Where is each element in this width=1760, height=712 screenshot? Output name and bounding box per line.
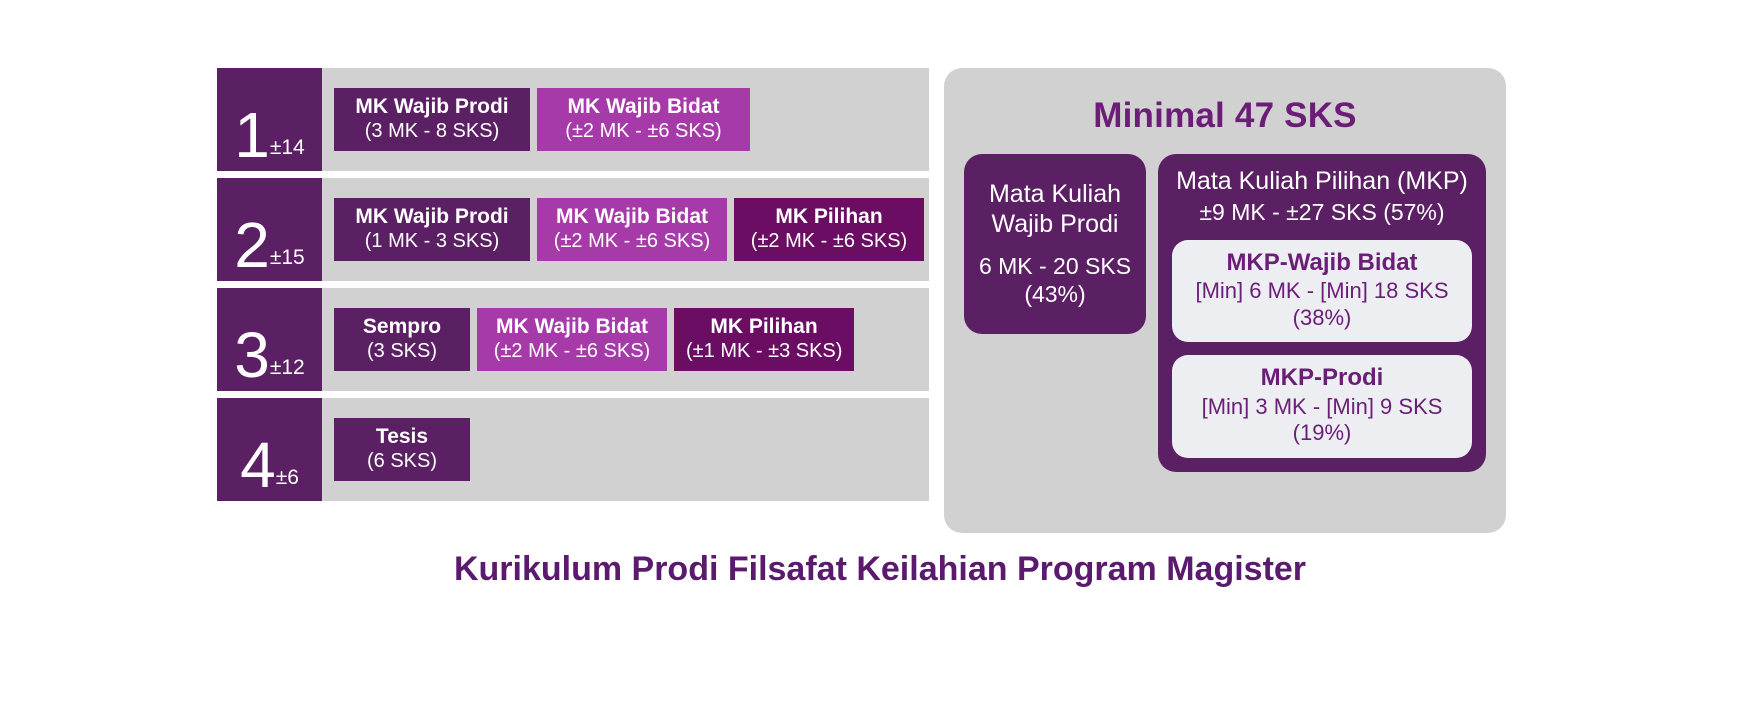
course-detail: (±2 MK - ±6 SKS) (549, 120, 738, 142)
mata-kuliah-wajib-prodi-card: Mata Kuliah Wajib Prodi 6 MK - 20 SKS (4… (964, 154, 1146, 334)
subgroup-title: MKP-Wajib Bidat (1184, 249, 1460, 278)
summary-title: Minimal 47 SKS (964, 96, 1486, 136)
wajib-prodi-value: 6 MK - 20 SKS (43%) (974, 253, 1136, 307)
diagram-canvas: 1±14MK Wajib Prodi(3 MK - 8 SKS)MK Wajib… (0, 0, 1760, 712)
subgroup-value: [Min] 6 MK - [Min] 18 SKS (38%) (1184, 278, 1460, 331)
course-title: Tesis (346, 425, 458, 449)
course-block[interactable]: Tesis(6 SKS) (334, 418, 470, 481)
course-title: MK Pilihan (686, 315, 842, 339)
course-title: MK Wajib Bidat (549, 95, 738, 119)
pilihan-subgroup-card: MKP-Wajib Bidat[Min] 6 MK - [Min] 18 SKS… (1172, 240, 1472, 343)
semester-number: 1 (234, 106, 269, 165)
summary-body: Mata Kuliah Wajib Prodi 6 MK - 20 SKS (4… (964, 154, 1486, 472)
pilihan-name: Mata Kuliah Pilihan (MKP) (1172, 166, 1472, 196)
course-title: MK Wajib Prodi (346, 205, 518, 229)
semester-number-badge: 3±12 (217, 288, 322, 391)
course-detail: (±2 MK - ±6 SKS) (746, 230, 912, 252)
course-detail: (±1 MK - ±3 SKS) (686, 340, 842, 362)
semester-course-track: Sempro(3 SKS)MK Wajib Bidat(±2 MK - ±6 S… (322, 288, 929, 391)
semester-number-badge: 4±6 (217, 398, 322, 501)
mata-kuliah-pilihan-card: Mata Kuliah Pilihan (MKP) ±9 MK - ±27 SK… (1158, 154, 1486, 472)
course-block[interactable]: MK Pilihan(±1 MK - ±3 SKS) (674, 308, 854, 371)
semester-row: 4±6Tesis(6 SKS) (217, 398, 929, 501)
semester-credits: ±12 (270, 357, 305, 385)
course-title: MK Pilihan (746, 205, 912, 229)
course-detail: (3 SKS) (346, 340, 458, 362)
pilihan-subgroups: MKP-Wajib Bidat[Min] 6 MK - [Min] 18 SKS… (1172, 240, 1472, 458)
semester-row: 2±15MK Wajib Prodi(1 MK - 3 SKS)MK Wajib… (217, 178, 929, 281)
semester-course-track: Tesis(6 SKS) (322, 398, 929, 501)
course-block[interactable]: MK Pilihan(±2 MK - ±6 SKS) (734, 198, 924, 261)
semester-credits: ±14 (270, 137, 305, 165)
course-detail: (1 MK - 3 SKS) (346, 230, 518, 252)
course-title: MK Wajib Bidat (549, 205, 715, 229)
pilihan-value: ±9 MK - ±27 SKS (57%) (1172, 199, 1472, 227)
semester-number: 3 (234, 326, 269, 385)
course-detail: (±2 MK - ±6 SKS) (489, 340, 655, 362)
semester-row: 1±14MK Wajib Prodi(3 MK - 8 SKS)MK Wajib… (217, 68, 929, 171)
course-block[interactable]: Sempro(3 SKS) (334, 308, 470, 371)
course-detail: (±2 MK - ±6 SKS) (549, 230, 715, 252)
subgroup-value: [Min] 3 MK - [Min] 9 SKS (19%) (1184, 394, 1460, 447)
course-title: Sempro (346, 315, 458, 339)
semester-credits: ±15 (270, 247, 305, 275)
semester-course-track: MK Wajib Prodi(3 MK - 8 SKS)MK Wajib Bid… (322, 68, 929, 171)
semester-timeline: 1±14MK Wajib Prodi(3 MK - 8 SKS)MK Wajib… (217, 68, 929, 501)
course-title: MK Wajib Prodi (346, 95, 518, 119)
course-title: MK Wajib Bidat (489, 315, 655, 339)
pilihan-subgroup-card: MKP-Prodi[Min] 3 MK - [Min] 9 SKS (19%) (1172, 355, 1472, 458)
semester-course-track: MK Wajib Prodi(1 MK - 3 SKS)MK Wajib Bid… (322, 178, 936, 281)
credits-summary-panel: Minimal 47 SKS Mata Kuliah Wajib Prodi 6… (944, 68, 1506, 533)
semester-number-badge: 2±15 (217, 178, 322, 281)
course-block[interactable]: MK Wajib Bidat(±2 MK - ±6 SKS) (537, 198, 727, 261)
course-block[interactable]: MK Wajib Bidat(±2 MK - ±6 SKS) (477, 308, 667, 371)
course-block[interactable]: MK Wajib Bidat(±2 MK - ±6 SKS) (537, 88, 750, 151)
wajib-prodi-name: Mata Kuliah Wajib Prodi (974, 180, 1136, 239)
course-block[interactable]: MK Wajib Prodi(3 MK - 8 SKS) (334, 88, 530, 151)
semester-credits: ±6 (276, 467, 299, 495)
subgroup-title: MKP-Prodi (1184, 364, 1460, 393)
semester-number: 4 (240, 436, 275, 495)
semester-number-badge: 1±14 (217, 68, 322, 171)
course-detail: (3 MK - 8 SKS) (346, 120, 518, 142)
course-detail: (6 SKS) (346, 450, 458, 472)
page-title: Kurikulum Prodi Filsafat Keilahian Progr… (0, 550, 1760, 589)
course-block[interactable]: MK Wajib Prodi(1 MK - 3 SKS) (334, 198, 530, 261)
semester-number: 2 (234, 216, 269, 275)
semester-row: 3±12Sempro(3 SKS)MK Wajib Bidat(±2 MK - … (217, 288, 929, 391)
